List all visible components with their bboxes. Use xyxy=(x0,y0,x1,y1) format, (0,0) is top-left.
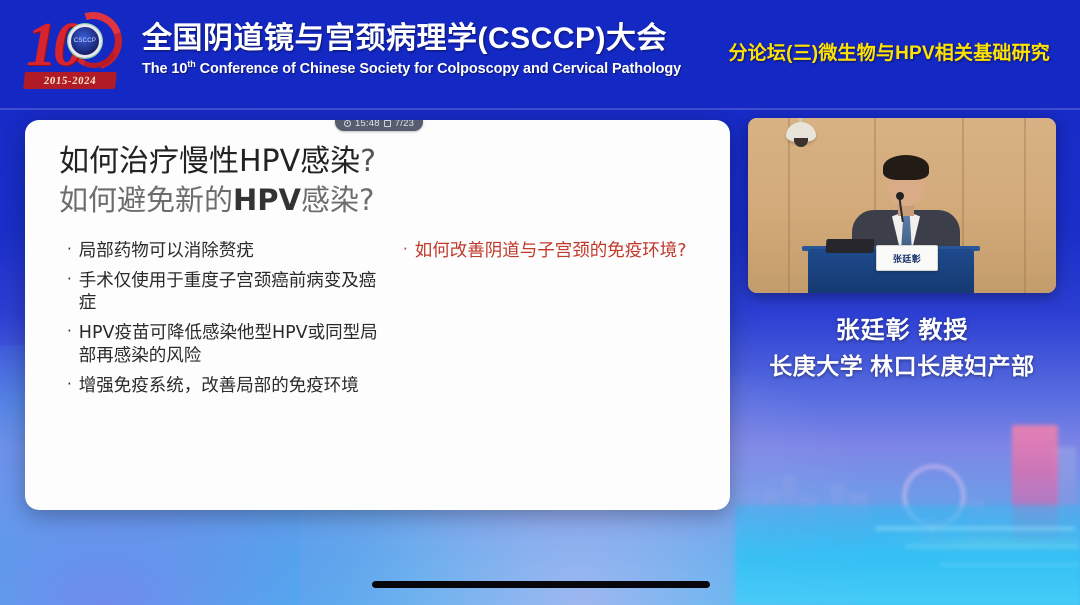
list-item-highlighted: · 如何改善阴道与子宫颈的免疫环境? xyxy=(403,240,700,263)
list-item: · 增强免疫系统，改善局部的免疫环境 xyxy=(67,375,389,398)
ferris-wheel-icon xyxy=(903,465,965,527)
bullet-dot: · xyxy=(67,240,72,263)
logo-emblem-icon: CSCCP xyxy=(68,24,102,58)
city-skyline-graphic xyxy=(735,405,1080,605)
slide-heading-secondary-pre: 如何避免新的 xyxy=(59,183,233,217)
bullet-dot: · xyxy=(67,322,72,368)
list-item: · 局部药物可以消除赘疣 xyxy=(67,240,389,263)
slide-heading-primary: 如何治疗慢性HPV感染? xyxy=(59,144,700,181)
bullet-dot: · xyxy=(67,375,72,398)
conference-brand: 10 CSCCP 2015-2024 全国阴道镜与宫颈病理学(CSCCP)大会 … xyxy=(24,10,681,94)
speaker-caption: 张廷彰 教授 长庚大学 林口长庚妇产部 xyxy=(748,315,1056,382)
title-en-pre: The 10 xyxy=(142,60,187,76)
home-indicator-bar[interactable] xyxy=(372,581,710,588)
live-stream-screen: 10 CSCCP 2015-2024 全国阴道镜与宫颈病理学(CSCCP)大会 … xyxy=(0,0,1080,605)
bullet-text: 局部药物可以消除赘疣 xyxy=(79,240,389,263)
pages-icon xyxy=(384,120,391,127)
slide-bullets-left: · 局部药物可以消除赘疣 · 手术仅使用于重度子宫颈癌前病变及癌症 · HPV疫… xyxy=(59,240,389,405)
list-item: · 手术仅使用于重度子宫颈癌前病变及癌症 xyxy=(67,270,389,316)
slide-time: 15:48 xyxy=(355,120,380,129)
slide-heading-primary-mark: ? xyxy=(360,144,376,179)
microphone-icon xyxy=(896,192,904,200)
presentation-slide-panel[interactable]: 15:48 7/23 如何治疗慢性HPV感染? 如何避免新的HPV感染? · 局… xyxy=(25,120,730,510)
slide-bullets-right: · 如何改善阴道与子宫颈的免疫环境? xyxy=(389,240,700,405)
slide-heading-secondary: 如何避免新的HPV感染? xyxy=(59,183,700,218)
conference-anniversary-logo-icon: 10 CSCCP 2015-2024 xyxy=(24,10,132,94)
bullet-dot: · xyxy=(67,270,72,316)
speaker-hair xyxy=(883,155,929,180)
list-item: · HPV疫苗可降低感染他型HPV或同型局部再感染的风险 xyxy=(67,322,389,368)
conference-header: 10 CSCCP 2015-2024 全国阴道镜与宫颈病理学(CSCCP)大会 … xyxy=(0,0,1080,110)
slide-heading-primary-text: 如何治疗慢性HPV感染 xyxy=(59,144,360,179)
speaker-video-feed[interactable]: 张廷彰 xyxy=(748,118,1056,293)
clock-icon xyxy=(344,120,351,127)
logo-emblem-label: CSCCP xyxy=(71,27,99,55)
bullet-text: 手术仅使用于重度子宫颈癌前病变及癌症 xyxy=(79,270,389,316)
speaker-name: 张廷彰 教授 xyxy=(748,315,1056,347)
title-en-ordinal: th xyxy=(187,59,195,69)
speaker-nameplate: 张廷彰 xyxy=(876,245,938,271)
conference-title-block: 全国阴道镜与宫颈病理学(CSCCP)大会 The 10th Conference… xyxy=(142,10,681,78)
slide-heading-secondary-bold: HPV xyxy=(233,183,301,217)
speaker-affiliation: 长庚大学 林口长庚妇产部 xyxy=(748,351,1056,382)
slide-page-counter: 7/23 xyxy=(395,120,414,129)
bullet-text: 增强免疫系统，改善局部的免疫环境 xyxy=(79,375,389,398)
slide-content: 如何治疗慢性HPV感染? 如何避免新的HPV感染? · 局部药物可以消除赘疣 ·… xyxy=(25,120,730,510)
title-en-post: Conference of Chinese Society for Colpos… xyxy=(196,60,682,76)
bullet-text: 如何改善阴道与子宫颈的免疫环境? xyxy=(415,240,700,263)
session-title: 分论坛(三)微生物与HPV相关基础研究 xyxy=(728,38,1050,65)
bullet-text: HPV疫苗可降低感染他型HPV或同型局部再感染的风险 xyxy=(79,322,389,368)
conference-title-chinese: 全国阴道镜与宫颈病理学(CSCCP)大会 xyxy=(142,22,681,56)
conference-title-english: The 10th Conference of Chinese Society f… xyxy=(142,59,681,78)
slide-bullet-columns: · 局部药物可以消除赘疣 · 手术仅使用于重度子宫颈癌前病变及癌症 · HPV疫… xyxy=(59,240,700,405)
video-scene: 张廷彰 xyxy=(748,118,1056,293)
slide-heading-secondary-post: 感染? xyxy=(301,183,374,217)
nameplate-text: 张廷彰 xyxy=(893,252,921,265)
ceiling-camera-lens xyxy=(794,138,808,147)
laptop xyxy=(826,239,875,253)
slide-status-badge: 15:48 7/23 xyxy=(335,120,423,131)
bullet-dot: · xyxy=(403,240,408,263)
logo-years-banner: 2015-2024 xyxy=(23,72,117,89)
